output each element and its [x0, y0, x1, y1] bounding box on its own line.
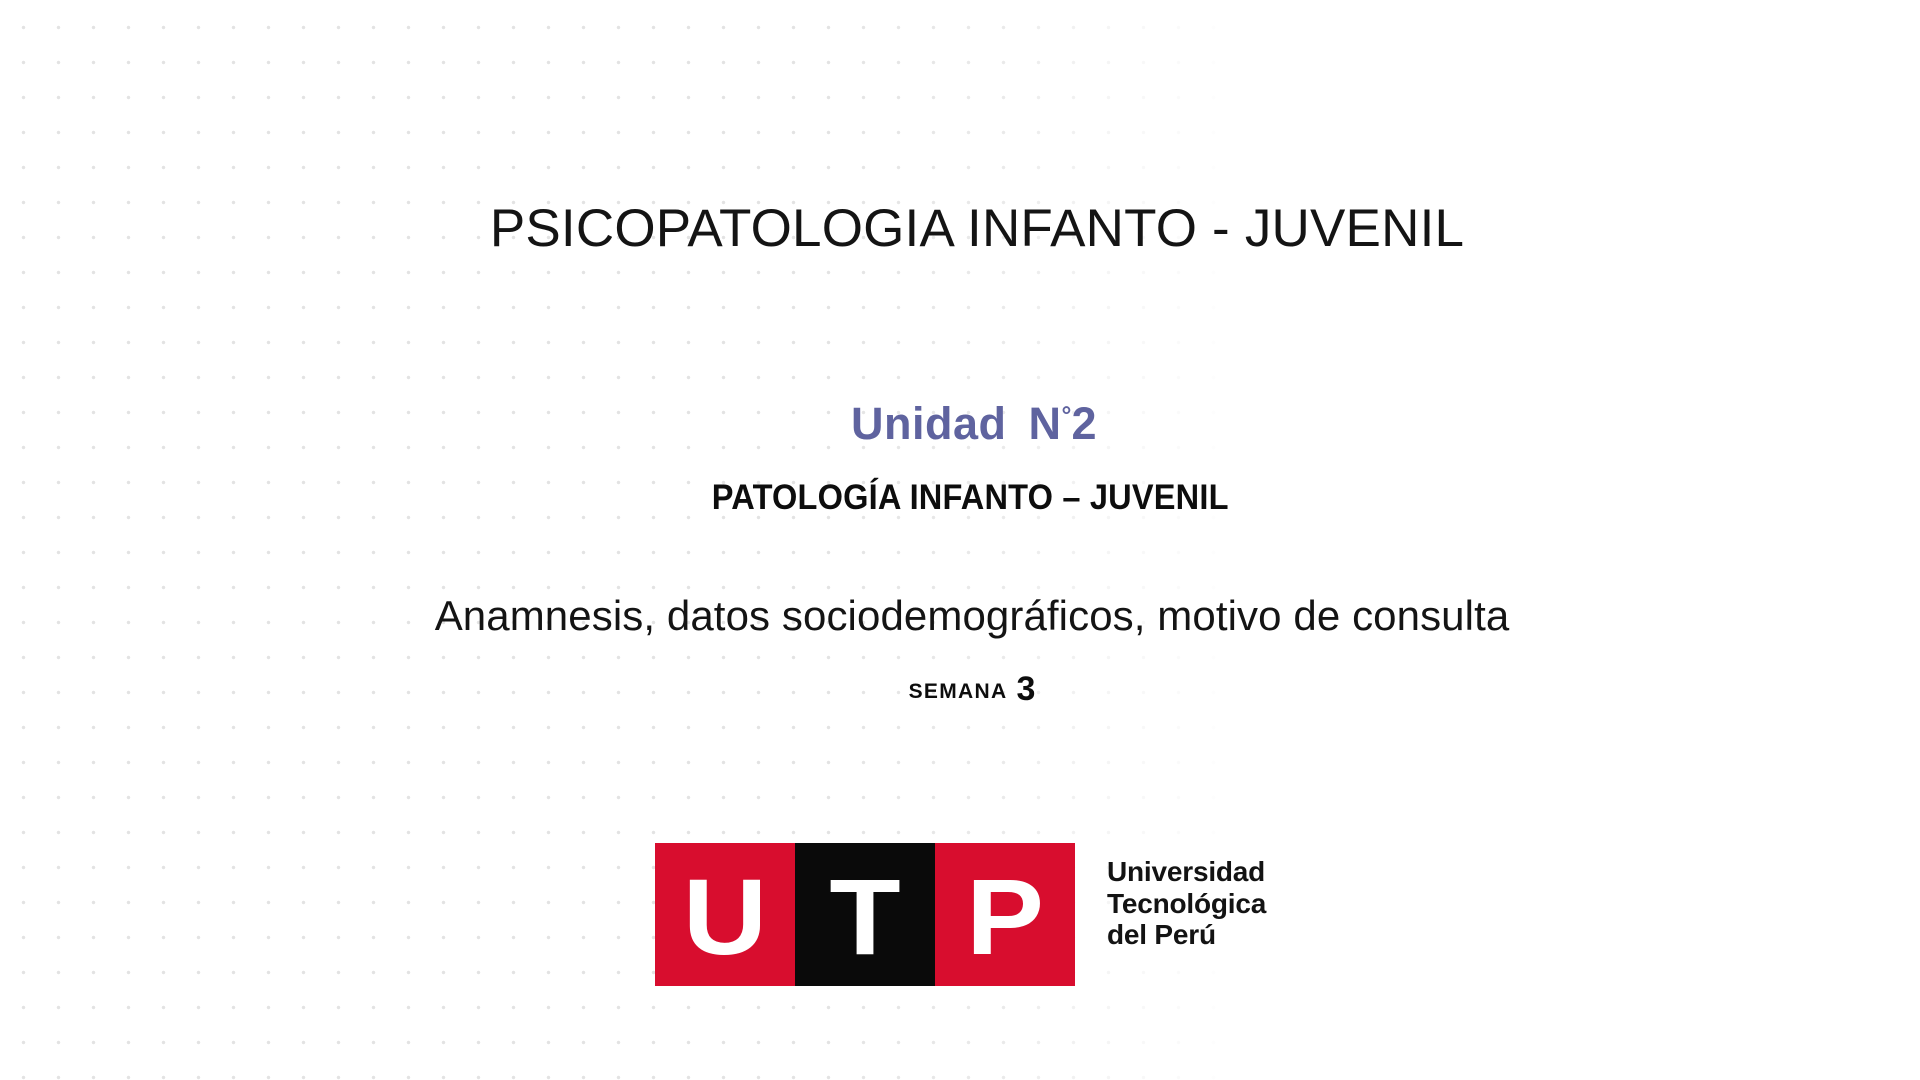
unit-heading: UnidadN°2 — [0, 398, 1920, 450]
utp-logo: U T P Universidad Tecnológica del Perú — [655, 843, 1266, 986]
week-label: SEMANA — [909, 680, 1008, 703]
unit-label: Unidad — [851, 398, 1007, 449]
slide-content: PSICOPATOLOGIA INFANTO - JUVENIL UnidadN… — [0, 0, 1920, 1080]
wordmark-line-2: Tecnológica — [1107, 888, 1266, 920]
unit-abbrev: N — [1029, 398, 1062, 449]
slide-canvas: PSICOPATOLOGIA INFANTO - JUVENIL UnidadN… — [0, 0, 1920, 1080]
unit-number: 2 — [1071, 398, 1097, 449]
logo-letter-p: P — [966, 863, 1044, 971]
logo-tile-u: U — [655, 843, 795, 986]
logo-letter-u: U — [683, 863, 767, 971]
logo-letter-t: T — [829, 863, 900, 971]
week-indicator: SEMANA3 — [0, 672, 1920, 706]
logo-tile-t: T — [795, 843, 935, 986]
wordmark-line-3: del Perú — [1107, 919, 1266, 951]
week-number: 3 — [1016, 670, 1035, 708]
utp-wordmark: Universidad Tecnológica del Perú — [1107, 856, 1266, 951]
wordmark-line-1: Universidad — [1107, 856, 1266, 888]
subject-subtitle: PATOLOGÍA INFANTO – JUVENIL — [67, 478, 1853, 518]
utp-logo-mark: U T P — [655, 843, 1075, 986]
page-title: PSICOPATOLOGIA INFANTO - JUVENIL — [0, 200, 1920, 258]
degree-symbol-icon: ° — [1062, 403, 1072, 430]
logo-tile-p: P — [935, 843, 1075, 986]
topic-description: Anamnesis, datos sociodemográficos, moti… — [0, 592, 1920, 640]
